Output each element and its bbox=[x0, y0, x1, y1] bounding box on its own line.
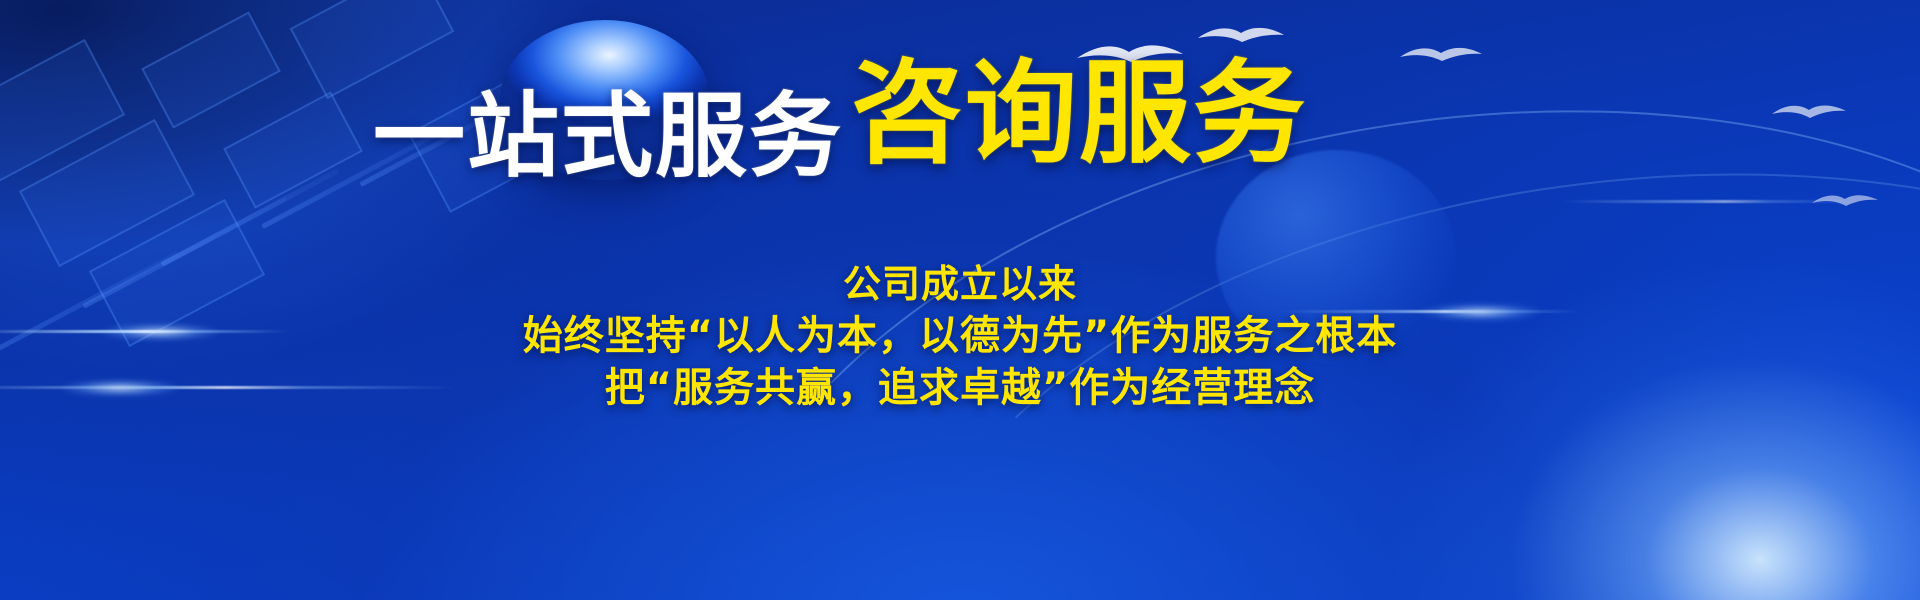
headline: 一站式服务咨询服务 bbox=[0, 74, 1920, 186]
seagull-icon bbox=[1196, 22, 1286, 50]
headline-primary-text: 一站式服务 bbox=[373, 83, 843, 190]
lens-flare-streak bbox=[1560, 200, 1860, 203]
body-line-3: 把“服务共赢，追求卓越”作为经营理念 bbox=[0, 362, 1920, 414]
body-line-1: 公司成立以来 bbox=[0, 258, 1920, 310]
seagull-icon bbox=[1398, 42, 1484, 70]
body-line-2: 始终坚持“以人为本，以德为先”作为服务之根本 bbox=[0, 310, 1920, 362]
body-copy: 公司成立以来 始终坚持“以人为本，以德为先”作为服务之根本 把“服务共赢，追求卓… bbox=[0, 258, 1920, 414]
promo-banner: 一站式服务咨询服务 公司成立以来 始终坚持“以人为本，以德为先”作为服务之根本 … bbox=[0, 0, 1920, 600]
headline-highlight-text: 咨询服务 bbox=[851, 49, 1307, 179]
headline-inner: 一站式服务咨询服务 bbox=[373, 74, 1307, 186]
seagull-icon bbox=[1810, 190, 1880, 214]
